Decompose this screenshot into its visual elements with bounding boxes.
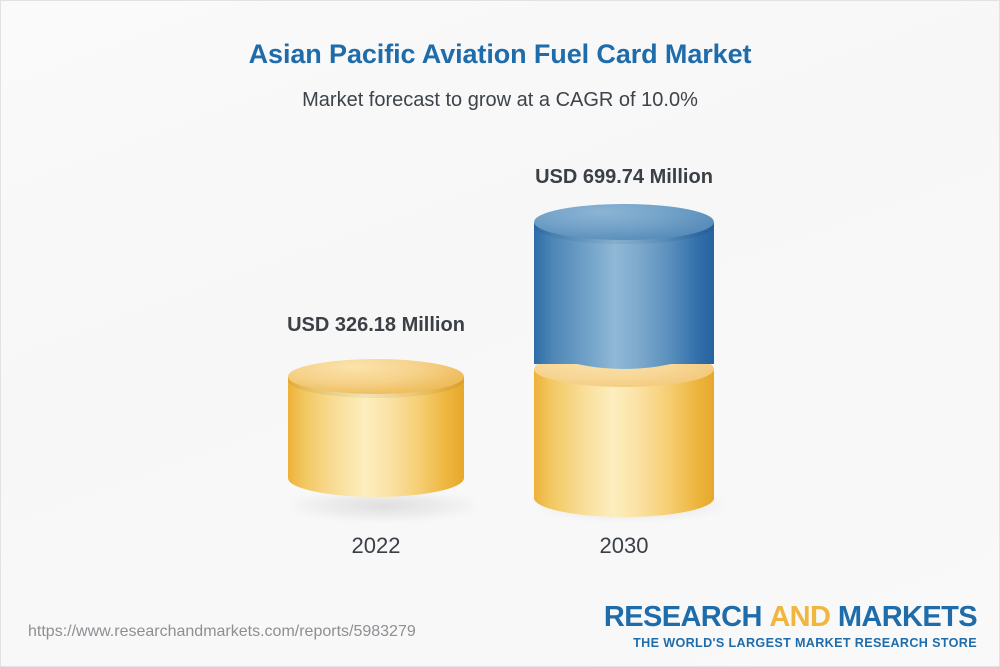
logo-word-and: AND xyxy=(769,601,830,633)
bar-2022-bottom-cap xyxy=(288,459,464,497)
category-label-2022: 2022 xyxy=(288,533,464,559)
page-subtitle: Market forecast to grow at a CAGR of 10.… xyxy=(1,89,999,112)
bar-shadow xyxy=(294,495,474,521)
logo-tagline: THE WORLD'S LARGEST MARKET RESEARCH STOR… xyxy=(604,637,977,650)
bar-2022 xyxy=(288,359,464,517)
category-label-2030: 2030 xyxy=(534,533,714,559)
logo-word-research: RESEARCH xyxy=(604,601,762,633)
value-label-2022: USD 326.18 Million xyxy=(216,314,536,337)
bar-2030-top-cap xyxy=(534,204,714,240)
logo-wordmark: RESEARCH AND MARKETS xyxy=(604,603,977,632)
bar-2030-body-main xyxy=(534,223,714,364)
bar-2030 xyxy=(534,204,714,517)
value-label-2030: USD 699.74 Million xyxy=(464,166,784,189)
logo-word-markets: MARKETS xyxy=(838,601,977,633)
report-url[interactable]: https://www.researchandmarkets.com/repor… xyxy=(28,623,416,641)
page-title: Asian Pacific Aviation Fuel Card Market xyxy=(1,39,999,70)
researchandmarkets-logo[interactable]: RESEARCH AND MARKETS THE WORLD'S LARGEST… xyxy=(604,603,977,650)
infographic-canvas: Asian Pacific Aviation Fuel Card Market … xyxy=(0,0,1000,667)
bar-2030-bottom-cap xyxy=(534,479,714,517)
bar-2022-top-cap xyxy=(288,359,464,394)
